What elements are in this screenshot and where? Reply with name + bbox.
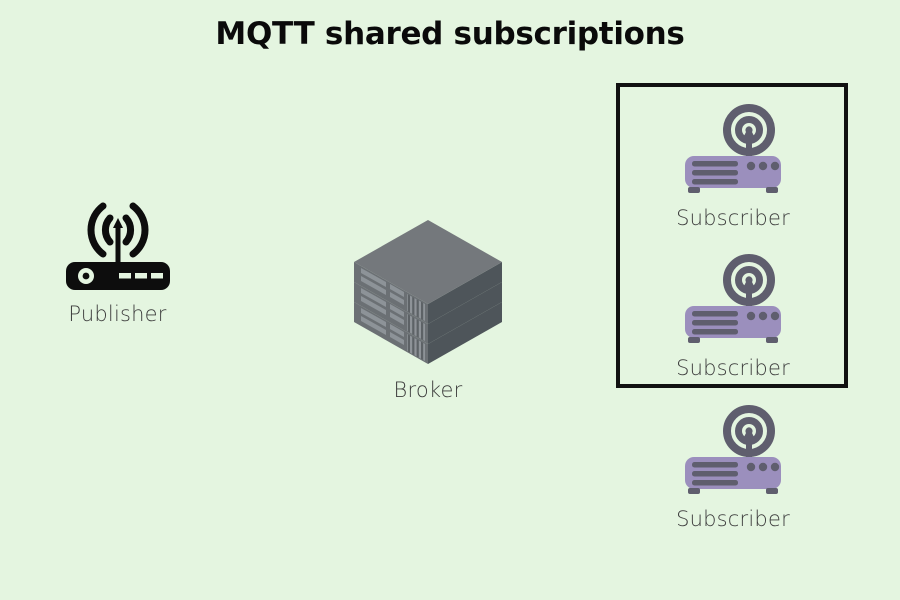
subscriber-label: Subscriber [676,206,790,230]
publisher-node[interactable]: Publisher [40,192,195,326]
broker-label: Broker [394,378,463,402]
subscriber-node-3[interactable]: Subscriber [648,405,818,531]
router-wifi-icon [669,254,797,350]
server-stack-icon [344,216,512,366]
diagram-canvas: MQTT shared subscriptions [0,0,900,600]
subscriber-label: Subscriber [676,507,790,531]
router-antenna-icon [63,192,173,292]
broker-node[interactable]: Broker [338,216,518,402]
subscriber-node-2[interactable]: Subscriber [648,254,818,380]
router-wifi-icon [669,405,797,501]
subscriber-label: Subscriber [676,356,790,380]
subscriber-node-1[interactable]: Subscriber [648,104,818,230]
router-wifi-icon [669,104,797,200]
publisher-label: Publisher [68,302,166,326]
page-title: MQTT shared subscriptions [0,16,900,52]
